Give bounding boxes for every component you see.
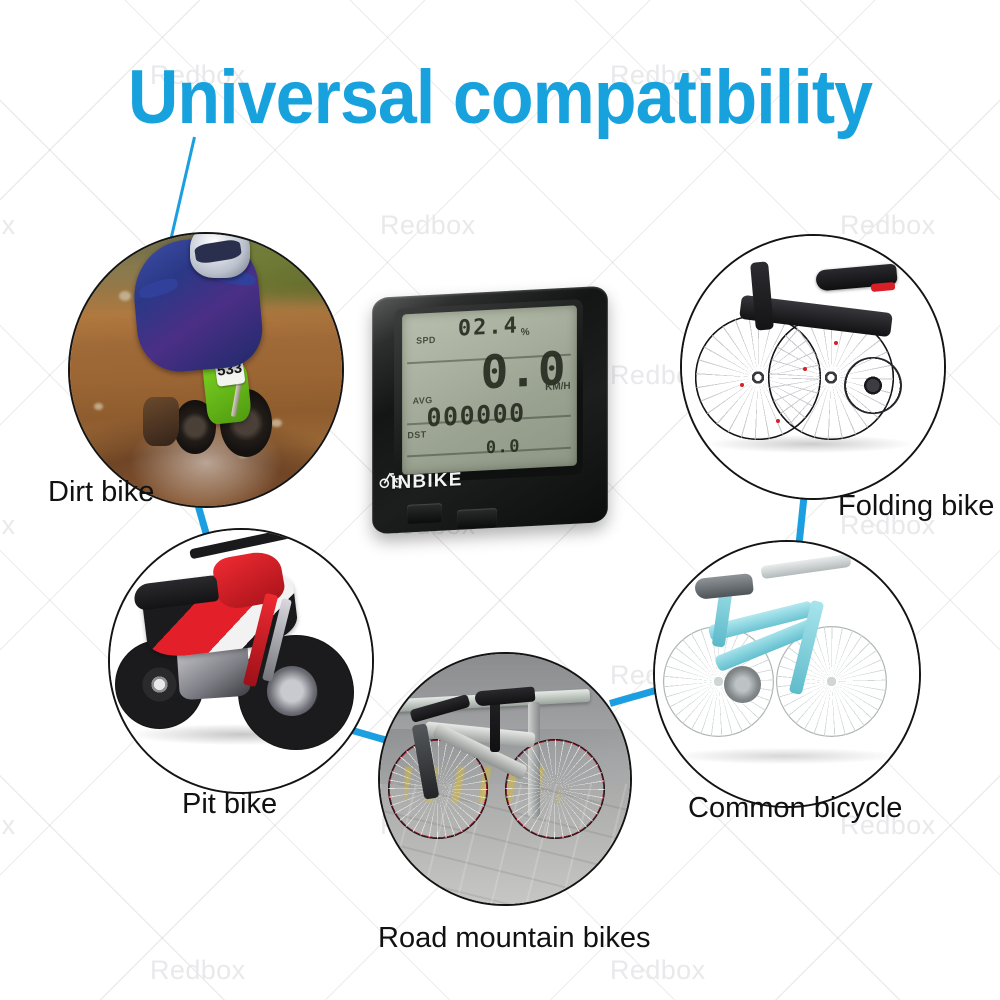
photo-pit-bike — [110, 530, 372, 792]
watermark-text: Redbox — [0, 810, 15, 841]
photo-folding-bike — [682, 236, 944, 498]
watermark-text: Redbox — [610, 955, 705, 986]
lcd-label-dst: DST — [407, 429, 426, 440]
callout-label-pit-bike: Pit bike — [182, 788, 277, 820]
device-lcd-screen: SPD AVG DST 02.4 % 0.0 KM/H 000000 0.0 — [402, 305, 576, 475]
infographic-canvas: RedboxRedboxRedboxRedboxRedboxRedboxRedb… — [0, 0, 1000, 1000]
device-button-right[interactable] — [457, 508, 497, 529]
callout-label-dirt-bike: Dirt bike — [48, 476, 154, 508]
callout-circle-road-mountain-bikes[interactable] — [378, 652, 632, 906]
photo-road-mountain-bike — [380, 654, 630, 904]
callout-label-folding-bike: Folding bike — [838, 490, 994, 522]
watermark-text: Redbox — [0, 210, 15, 241]
lcd-odometer-value: 000000 — [426, 398, 525, 432]
lcd-top-value: 02.4 — [457, 313, 518, 341]
photo-dirt-bike: 533 — [70, 234, 342, 506]
device-brand-label: INBIKE — [391, 469, 463, 495]
lcd-label-spd: SPD — [416, 335, 436, 346]
lcd-top-unit: % — [520, 327, 529, 338]
lcd-bottom-value: 0.0 — [485, 436, 520, 458]
device-button-left[interactable] — [407, 503, 442, 524]
callout-label-common-bicycle: Common bicycle — [688, 792, 902, 824]
page-title: Universal compatibility — [40, 58, 960, 138]
callout-label-road-mountain-bikes: Road mountain bikes — [378, 922, 650, 954]
callout-circle-pit-bike[interactable] — [108, 528, 374, 794]
watermark-text: Redbox — [0, 510, 15, 541]
callout-circle-folding-bike[interactable] — [680, 234, 946, 500]
callout-circle-common-bicycle[interactable] — [653, 540, 921, 808]
bike-computer-device[interactable]: SPD AVG DST 02.4 % 0.0 KM/H 000000 0.0 I… — [372, 292, 608, 528]
watermark-text: Redbox — [380, 210, 475, 241]
watermark-text: Redbox — [150, 955, 245, 986]
callout-circle-dirt-bike[interactable]: 533 — [68, 232, 344, 508]
lcd-speed-unit: KM/H — [545, 381, 571, 393]
photo-common-bicycle — [655, 542, 919, 806]
